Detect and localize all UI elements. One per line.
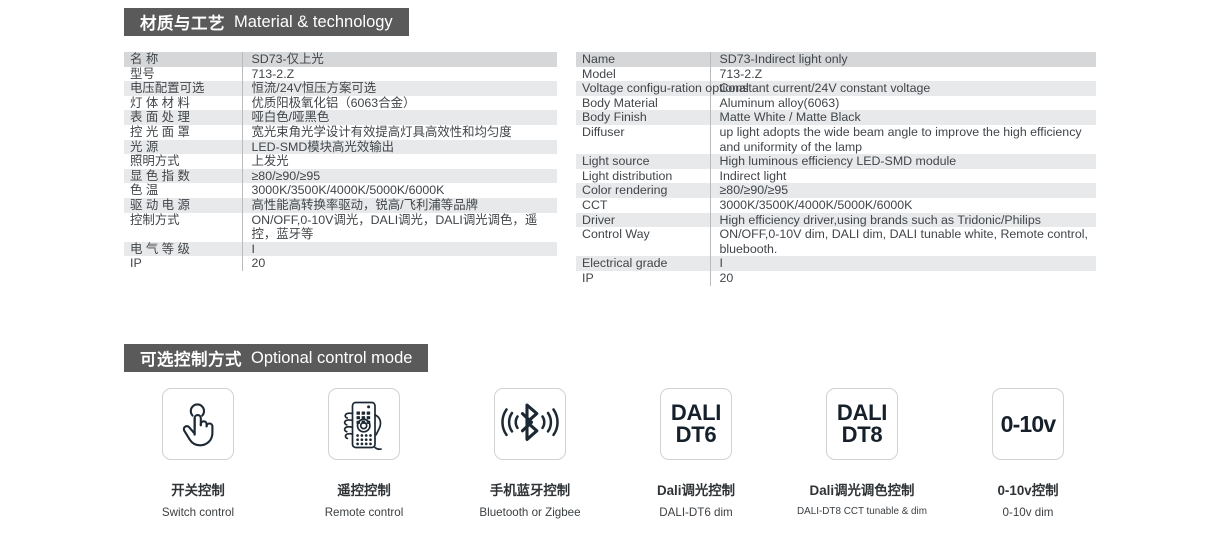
control-mode-label-cn: Dali调光控制 xyxy=(657,479,735,499)
spec-key: 电压配置可选 xyxy=(124,81,242,96)
control-mode-card[interactable]: 遥控控制Remote control xyxy=(290,388,438,519)
dali-badge-line2: DT6 xyxy=(671,424,721,446)
control-mode-label-en: DALI-DT8 CCT tunable & dim xyxy=(797,506,927,517)
dali-badge-line1: DALI xyxy=(837,402,887,424)
spec-value: Indirect light xyxy=(710,169,1096,184)
spec-key: IP xyxy=(576,271,710,286)
section-banner-material-cn: 材质与工艺 xyxy=(140,10,225,34)
spec-value: High luminous efficiency LED-SMD module xyxy=(710,154,1096,169)
spec-key: Voltage configu-ration optional xyxy=(576,81,710,96)
spec-table-chinese: 名 称SD73-仅上光型号713-2.Z电压配置可选恒流/24V恒压方案可选灯 … xyxy=(124,52,557,271)
dali-badge-line1: DALI xyxy=(671,402,721,424)
spec-table-chinese-body: 名 称SD73-仅上光型号713-2.Z电压配置可选恒流/24V恒压方案可选灯 … xyxy=(124,52,557,271)
spec-key: Diffuser xyxy=(576,125,710,154)
spec-key: Body Finish xyxy=(576,110,710,125)
spec-value: up light adopts the wide beam angle to i… xyxy=(710,125,1096,154)
control-mode-card[interactable]: 手机蓝牙控制Bluetooth or Zigbee xyxy=(456,388,604,519)
control-mode-card[interactable]: DALIDT8Dali调光调色控制DALI-DT8 CCT tunable & … xyxy=(788,388,936,519)
spec-key: CCT xyxy=(576,198,710,213)
spec-key: 表 面 处 理 xyxy=(124,110,242,125)
spec-table-english: NameSD73-Indirect light onlyModel713-2.Z… xyxy=(576,52,1096,286)
spec-key: Name xyxy=(576,52,710,67)
spec-key: Light source xyxy=(576,154,710,169)
table-row: 控制方式ON/OFF,0-10V调光，DALI调光，DALI调光调色，遥控，蓝牙… xyxy=(124,213,557,242)
control-mode-card[interactable]: 开关控制Switch control xyxy=(124,388,272,519)
section-banner-control-en: Optional control mode xyxy=(251,349,412,368)
table-row: Body FinishMatte White / Matte Black xyxy=(576,110,1096,125)
table-row: 电 气 等 级I xyxy=(124,242,557,257)
control-mode-label-cn: 遥控控制 xyxy=(337,479,391,499)
spec-key: 电 气 等 级 xyxy=(124,242,242,257)
spec-value: ≥80/≥90/≥95 xyxy=(710,183,1096,198)
table-row: 控 光 面 罩宽光束角光学设计有效提高灯具高效性和均匀度 xyxy=(124,125,557,140)
remote-control-icon xyxy=(335,395,393,453)
spec-value: 3000K/3500K/4000K/5000K/6000K xyxy=(710,198,1096,213)
dali-dt8-icon: DALIDT8 xyxy=(837,402,887,447)
table-row: NameSD73-Indirect light only xyxy=(576,52,1096,67)
spec-key: IP xyxy=(124,256,242,271)
dali-badge-line2: DT8 xyxy=(837,424,887,446)
section-banner-material-en: Material & technology xyxy=(234,13,393,32)
spec-key: 控 光 面 罩 xyxy=(124,125,242,140)
table-row: Diffuserup light adopts the wide beam an… xyxy=(576,125,1096,154)
spec-key: 名 称 xyxy=(124,52,242,67)
table-row: Voltage configu-ration optionalConstant … xyxy=(576,81,1096,96)
section-banner-material: 材质与工艺 Material & technology xyxy=(124,8,409,36)
spec-value: 3000K/3500K/4000K/5000K/6000K xyxy=(242,183,557,198)
control-mode-label-en: Remote control xyxy=(325,506,404,519)
table-row: CCT3000K/3500K/4000K/5000K/6000K xyxy=(576,198,1096,213)
control-mode-label-en: Bluetooth or Zigbee xyxy=(479,506,580,519)
remote-control-icon-box[interactable] xyxy=(328,388,400,460)
dali-dt8-icon-box[interactable]: DALIDT8 xyxy=(826,388,898,460)
control-mode-label-cn: 手机蓝牙控制 xyxy=(490,479,570,499)
spec-value: SD73-仅上光 xyxy=(242,52,557,67)
spec-key: 型号 xyxy=(124,67,242,82)
table-row: Model713-2.Z xyxy=(576,67,1096,82)
table-row: Electrical gradeI xyxy=(576,256,1096,271)
spec-key: Body Material xyxy=(576,96,710,111)
section-banner-control-mode: 可选控制方式 Optional control mode xyxy=(124,344,428,372)
spec-value: 宽光束角光学设计有效提高灯具高效性和均匀度 xyxy=(242,125,557,140)
spec-value: 优质阳极氧化铝（6063合金） xyxy=(242,96,557,111)
table-row: DriverHigh efficiency driver,using brand… xyxy=(576,213,1096,228)
section-banner-control-cn: 可选控制方式 xyxy=(140,346,242,370)
spec-value: 20 xyxy=(710,271,1096,286)
zero-ten-volt-icon-box[interactable]: 0-10v xyxy=(992,388,1064,460)
hand-tap-icon-box[interactable] xyxy=(162,388,234,460)
table-row: 电压配置可选恒流/24V恒压方案可选 xyxy=(124,81,557,96)
table-row: Light distributionIndirect light xyxy=(576,169,1096,184)
spec-value: Constant current/24V constant voltage xyxy=(710,81,1096,96)
hand-tap-icon xyxy=(170,396,226,452)
table-row: Control WayON/OFF,0-10V dim, DALI dim, D… xyxy=(576,227,1096,256)
control-mode-label-cn: 0-10v控制 xyxy=(997,479,1058,499)
spec-value: High efficiency driver,using brands such… xyxy=(710,213,1096,228)
spec-key: 色 温 xyxy=(124,183,242,198)
spec-value: 哑白色/哑黑色 xyxy=(242,110,557,125)
spec-key: Light distribution xyxy=(576,169,710,184)
spec-value: 713-2.Z xyxy=(242,67,557,82)
table-row: IP20 xyxy=(124,256,557,271)
control-mode-label-en: Switch control xyxy=(162,506,234,519)
spec-key: 光 源 xyxy=(124,140,242,155)
spec-key: 驱 动 电 源 xyxy=(124,198,242,213)
spec-table-english-body: NameSD73-Indirect light onlyModel713-2.Z… xyxy=(576,52,1096,286)
spec-key: Model xyxy=(576,67,710,82)
spec-key: 控制方式 xyxy=(124,213,242,242)
table-row: 灯 体 材 料优质阳极氧化铝（6063合金） xyxy=(124,96,557,111)
spec-value: 上发光 xyxy=(242,154,557,169)
spec-value: I xyxy=(242,242,557,257)
spec-value: Matte White / Matte Black xyxy=(710,110,1096,125)
control-mode-label-en: 0-10v dim xyxy=(1003,506,1054,519)
spec-key: Driver xyxy=(576,213,710,228)
table-row: Body MaterialAluminum alloy(6063) xyxy=(576,96,1096,111)
table-row: Color rendering≥80/≥90/≥95 xyxy=(576,183,1096,198)
spec-value: LED-SMD模块高光效输出 xyxy=(242,140,557,155)
spec-key: Color rendering xyxy=(576,183,710,198)
table-row: 显 色 指 数≥80/≥90/≥95 xyxy=(124,169,557,184)
spec-value: ≥80/≥90/≥95 xyxy=(242,169,557,184)
dali-dt6-icon: DALIDT6 xyxy=(671,402,721,447)
bluetooth-icon-box[interactable] xyxy=(494,388,566,460)
spec-key: 显 色 指 数 xyxy=(124,169,242,184)
spec-key: Control Way xyxy=(576,227,710,256)
table-row: Light sourceHigh luminous efficiency LED… xyxy=(576,154,1096,169)
spec-value: 恒流/24V恒压方案可选 xyxy=(242,81,557,96)
spec-value: ON/OFF,0-10V dim, DALI dim, DALI tunable… xyxy=(710,227,1096,256)
spec-value: 20 xyxy=(242,256,557,271)
spec-value: Aluminum alloy(6063) xyxy=(710,96,1096,111)
spec-key: 灯 体 材 料 xyxy=(124,96,242,111)
table-row: 型号713-2.Z xyxy=(124,67,557,82)
table-row: 照明方式上发光 xyxy=(124,154,557,169)
spec-key: 照明方式 xyxy=(124,154,242,169)
bluetooth-icon xyxy=(501,401,559,447)
control-mode-label-cn: 开关控制 xyxy=(171,479,225,499)
control-mode-list: 开关控制Switch control遥控控制Remote control手机蓝牙… xyxy=(124,388,1102,519)
table-row: IP20 xyxy=(576,271,1096,286)
table-row: 色 温3000K/3500K/4000K/5000K/6000K xyxy=(124,183,557,198)
table-row: 驱 动 电 源高性能高转换率驱动，锐高/飞利浦等品牌 xyxy=(124,198,557,213)
control-mode-card[interactable]: 0-10v0-10v控制0-10v dim xyxy=(954,388,1102,519)
control-mode-label-cn: Dali调光调色控制 xyxy=(810,479,915,499)
spec-value: SD73-Indirect light only xyxy=(710,52,1096,67)
table-row: 名 称SD73-仅上光 xyxy=(124,52,557,67)
spec-value: I xyxy=(710,256,1096,271)
table-row: 表 面 处 理哑白色/哑黑色 xyxy=(124,110,557,125)
zero-ten-volt-icon: 0-10v xyxy=(1001,411,1056,438)
control-mode-card[interactable]: DALIDT6Dali调光控制DALI-DT6 dim xyxy=(622,388,770,519)
table-row: 光 源LED-SMD模块高光效输出 xyxy=(124,140,557,155)
control-mode-label-en: DALI-DT6 dim xyxy=(659,506,732,519)
spec-key: Electrical grade xyxy=(576,256,710,271)
spec-value: 713-2.Z xyxy=(710,67,1096,82)
spec-value: ON/OFF,0-10V调光，DALI调光，DALI调光调色，遥控，蓝牙等 xyxy=(242,213,557,242)
spec-value: 高性能高转换率驱动，锐高/飞利浦等品牌 xyxy=(242,198,557,213)
dali-dt6-icon-box[interactable]: DALIDT6 xyxy=(660,388,732,460)
